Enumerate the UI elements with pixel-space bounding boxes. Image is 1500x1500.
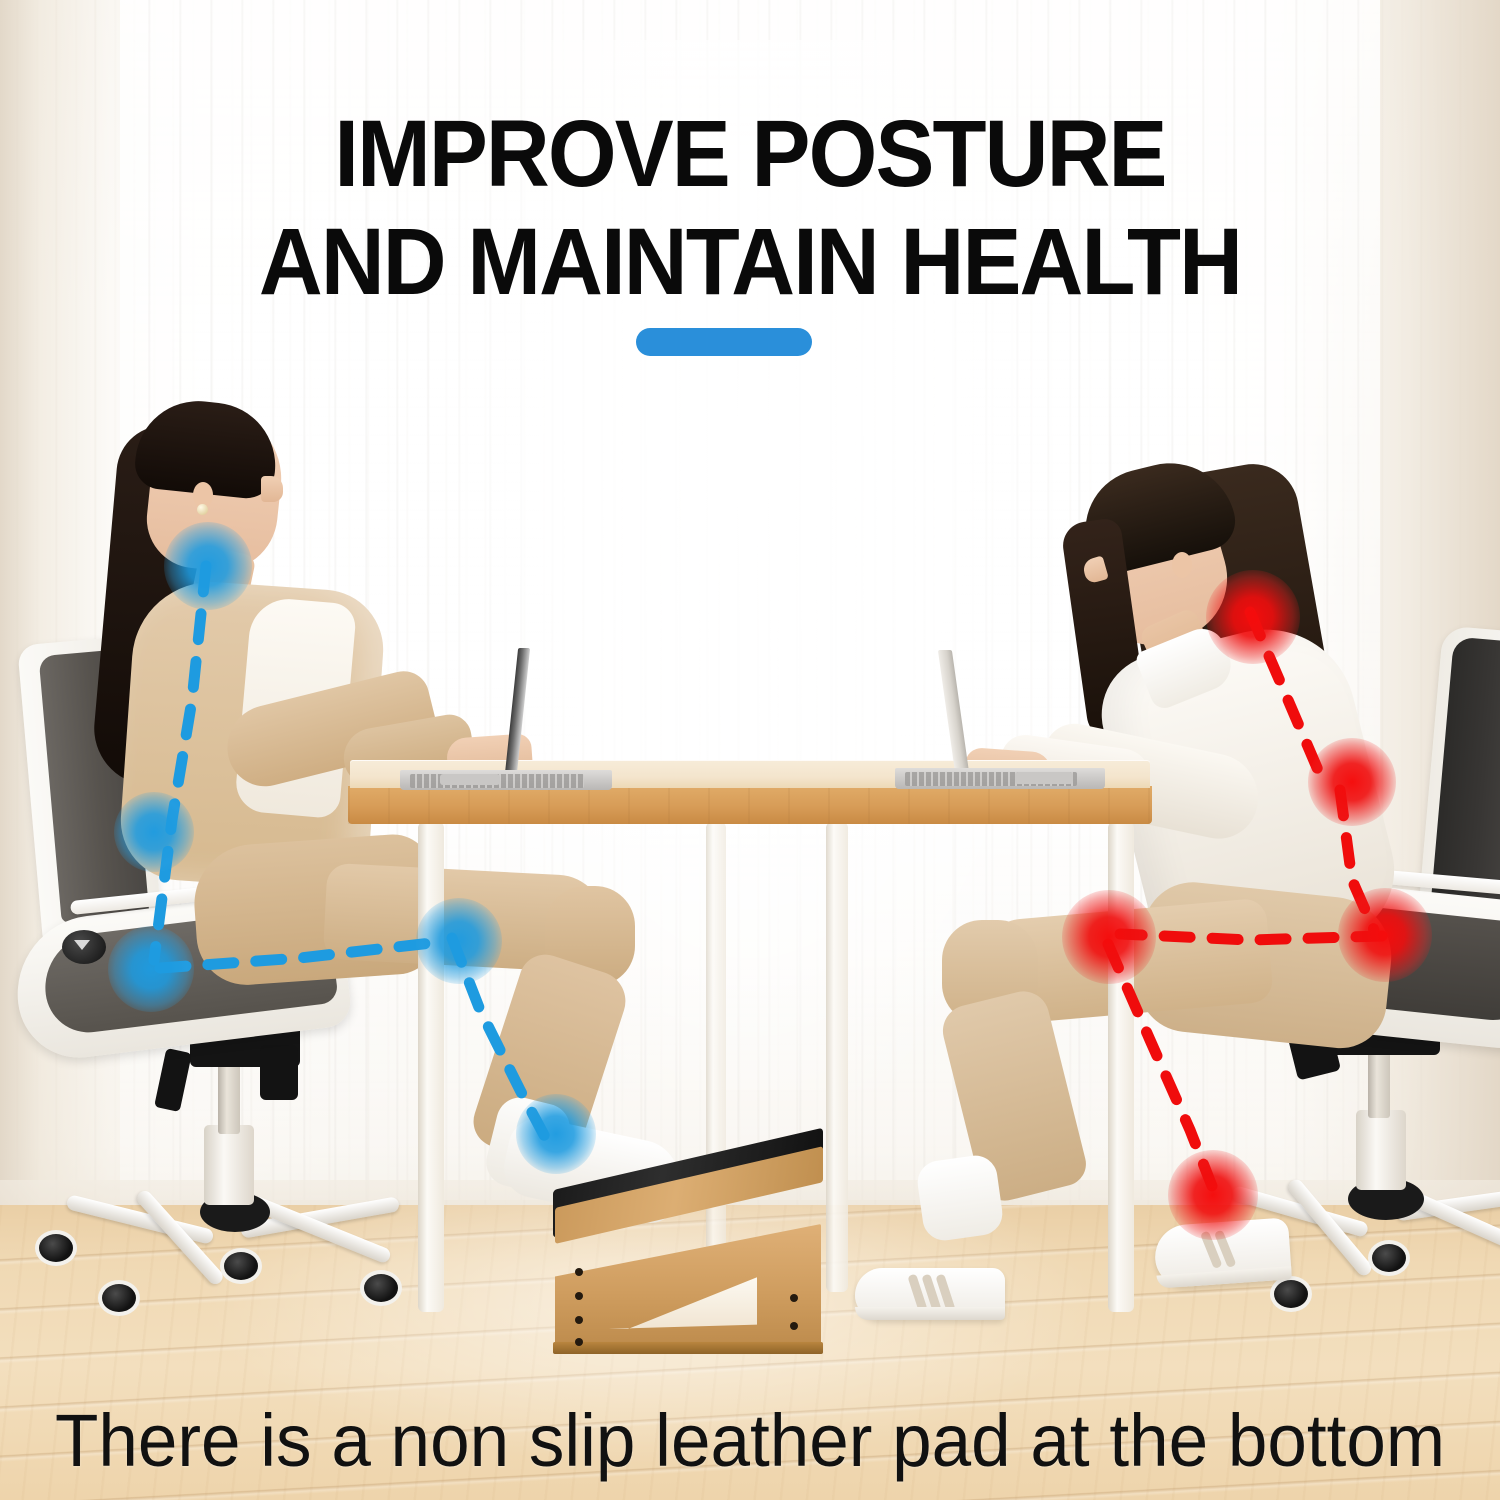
laptop-right xyxy=(865,648,1090,788)
footrest-screw xyxy=(575,1268,583,1276)
footrest-screw xyxy=(575,1338,583,1346)
footrest-screw xyxy=(575,1292,583,1300)
sneaker-right-foot xyxy=(1153,1217,1292,1288)
feature-caption: There is a non slip leather pad at the b… xyxy=(30,1398,1470,1484)
earring xyxy=(197,504,208,515)
laptop-screen xyxy=(938,650,969,772)
ear xyxy=(1172,552,1192,578)
desk-leg-front-left xyxy=(418,822,444,1312)
laptop-screen xyxy=(505,648,530,773)
laptop-trackpad xyxy=(440,774,500,785)
footrest-screw xyxy=(790,1294,798,1302)
accent-divider-bar xyxy=(636,328,812,356)
wooden-footrest-product xyxy=(545,1190,835,1365)
product-lifestyle-image: IMPROVE POSTURE AND MAINTAIN HEALTH Ther… xyxy=(0,0,1500,1500)
laptop-keyboard-base xyxy=(895,768,1105,789)
laptop-left xyxy=(400,648,615,788)
laptop-keyboard-base xyxy=(400,770,612,790)
ankle-sock xyxy=(915,1153,1005,1243)
page-title: IMPROVE POSTURE AND MAINTAIN HEALTH xyxy=(53,100,1448,316)
chair-caster xyxy=(35,1230,77,1266)
sneaker-left-foot xyxy=(855,1268,1005,1320)
desk-edge xyxy=(348,786,1152,824)
laptop-trackpad xyxy=(1015,772,1073,784)
footrest-base-board xyxy=(553,1342,823,1354)
footrest-screw xyxy=(575,1316,583,1324)
footrest-screw xyxy=(790,1322,798,1330)
footrest-side-panel xyxy=(555,1224,821,1349)
correct-posture-woman xyxy=(75,400,545,1360)
desk-leg-front-right xyxy=(1108,822,1134,1312)
nose xyxy=(261,476,283,502)
